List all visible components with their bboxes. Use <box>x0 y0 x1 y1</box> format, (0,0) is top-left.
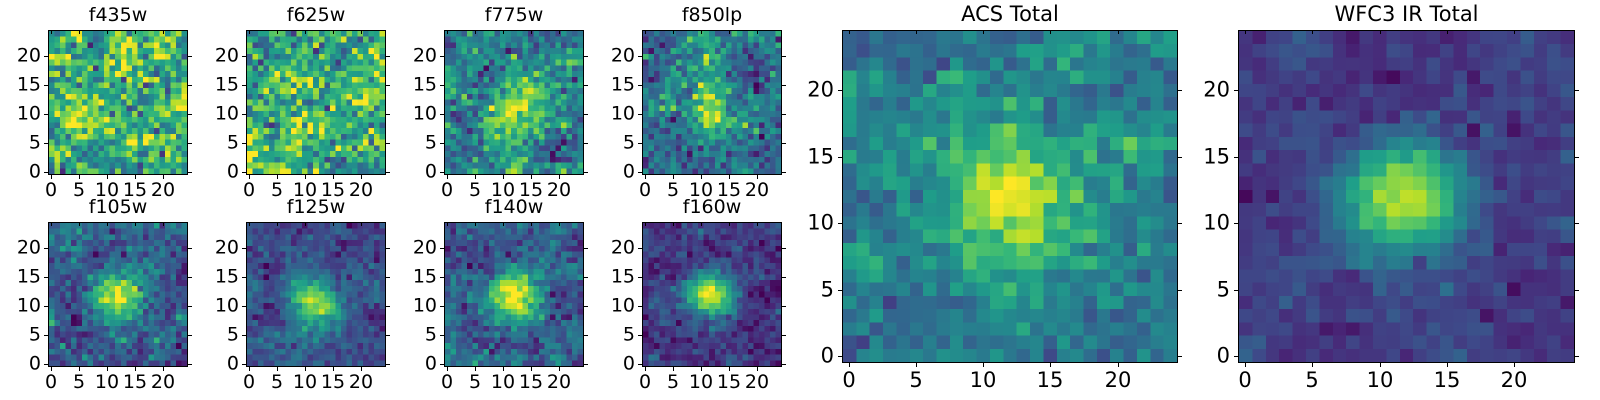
yticklabel-wfc3-ir-total-10: 10 <box>1190 213 1230 234</box>
xticklabel-f105w-20: 20 <box>151 373 175 392</box>
ytick-right-f105w-20 <box>188 248 192 249</box>
ytick-right-f160w-10 <box>782 306 786 307</box>
ytick-right-f435w-5 <box>188 143 192 144</box>
xticklabel-f140w-20: 20 <box>547 373 571 392</box>
xtick-top-f125w-15 <box>333 222 334 226</box>
ytick-f125w-10 <box>242 306 246 307</box>
axes-f160w <box>642 222 782 367</box>
ytick-right-f140w-20 <box>584 248 588 249</box>
panel-wfc3-ir-total: WFC3 IR Total0055101015152020 <box>1238 0 1575 400</box>
xtick-top-f160w-5 <box>673 222 674 226</box>
ytick-f105w-0 <box>44 364 48 365</box>
yticklabel-f105w-10: 10 <box>1 297 41 316</box>
yticklabel-f775w-20: 20 <box>397 47 437 66</box>
ytick-right-f140w-15 <box>584 277 588 278</box>
ytick-f160w-20 <box>638 248 642 249</box>
ytick-f160w-15 <box>638 277 642 278</box>
ytick-right-acs-total-5 <box>1178 290 1182 291</box>
xticklabel-f105w-15: 15 <box>123 373 147 392</box>
ytick-right-f140w-10 <box>584 306 588 307</box>
panel-title-f105w: f105w <box>48 198 188 217</box>
ytick-right-acs-total-15 <box>1178 157 1182 158</box>
ytick-right-f105w-5 <box>188 335 192 336</box>
xticklabel-acs-total-5: 5 <box>909 370 922 391</box>
ytick-right-f160w-20 <box>782 248 786 249</box>
ytick-right-f775w-0 <box>584 172 588 173</box>
yticklabel-f125w-20: 20 <box>199 239 239 258</box>
xtick-top-f105w-0 <box>51 222 52 226</box>
xtick-acs-total-0 <box>849 363 850 367</box>
ytick-wfc3-ir-total-10 <box>1234 223 1238 224</box>
xtick-top-acs-total-5 <box>916 30 917 34</box>
panel-title-acs-total: ACS Total <box>842 4 1178 25</box>
yticklabel-wfc3-ir-total-20: 20 <box>1190 80 1230 101</box>
yticklabel-wfc3-ir-total-5: 5 <box>1190 280 1230 301</box>
panel-title-wfc3-ir-total: WFC3 IR Total <box>1238 4 1575 25</box>
ytick-f140w-15 <box>440 277 444 278</box>
ytick-right-f625w-5 <box>386 143 390 144</box>
xticklabel-f105w-10: 10 <box>95 373 119 392</box>
yticklabel-f125w-0: 0 <box>199 355 239 374</box>
ytick-f140w-10 <box>440 306 444 307</box>
ytick-right-f775w-15 <box>584 85 588 86</box>
ytick-right-f125w-20 <box>386 248 390 249</box>
ytick-right-f850lp-5 <box>782 143 786 144</box>
ytick-right-f775w-5 <box>584 143 588 144</box>
xtick-acs-total-15 <box>1050 363 1051 367</box>
ytick-f125w-20 <box>242 248 246 249</box>
heatmap-image-f140w <box>445 223 583 366</box>
xtick-top-f105w-15 <box>135 222 136 226</box>
ytick-right-f125w-0 <box>386 364 390 365</box>
panel-f160w: f160w0055101015152020 <box>642 0 782 400</box>
yticklabel-acs-total-10: 10 <box>794 213 834 234</box>
ytick-right-wfc3-ir-total-10 <box>1575 223 1579 224</box>
panel-f140w: f140w0055101015152020 <box>444 0 584 400</box>
xticklabel-f140w-0: 0 <box>441 373 453 392</box>
ytick-wfc3-ir-total-15 <box>1234 157 1238 158</box>
yticklabel-f105w-15: 15 <box>1 268 41 287</box>
xtick-wfc3-ir-total-15 <box>1447 363 1448 367</box>
ytick-right-acs-total-20 <box>1178 90 1182 91</box>
xticklabel-f140w-15: 15 <box>519 373 543 392</box>
xtick-wfc3-ir-total-0 <box>1245 363 1246 367</box>
ytick-right-acs-total-10 <box>1178 223 1182 224</box>
ytick-right-f140w-5 <box>584 335 588 336</box>
xticklabel-f125w-20: 20 <box>349 373 373 392</box>
yticklabel-f160w-20: 20 <box>595 239 635 258</box>
yticklabel-acs-total-15: 15 <box>794 147 834 168</box>
axes-f140w <box>444 222 584 367</box>
panel-f125w: f125w0055101015152020 <box>246 0 386 400</box>
yticklabel-wfc3-ir-total-0: 0 <box>1190 346 1230 367</box>
ytick-right-f625w-0 <box>386 172 390 173</box>
ytick-right-f775w-10 <box>584 114 588 115</box>
xticklabel-acs-total-20: 20 <box>1105 370 1132 391</box>
yticklabel-f850lp-5: 5 <box>595 134 635 153</box>
yticklabel-f850lp-15: 15 <box>595 76 635 95</box>
yticklabel-f105w-20: 20 <box>1 239 41 258</box>
ytick-f105w-20 <box>44 248 48 249</box>
ytick-right-f160w-0 <box>782 364 786 365</box>
yticklabel-f140w-15: 15 <box>397 268 437 287</box>
xtick-top-wfc3-ir-total-0 <box>1245 30 1246 34</box>
xticklabel-f160w-15: 15 <box>717 373 741 392</box>
xticklabel-f140w-5: 5 <box>469 373 481 392</box>
ytick-f125w-5 <box>242 335 246 336</box>
xtick-top-wfc3-ir-total-5 <box>1312 30 1313 34</box>
ytick-right-f160w-15 <box>782 277 786 278</box>
ytick-right-f125w-5 <box>386 335 390 336</box>
xtick-top-f140w-5 <box>475 222 476 226</box>
xticklabel-acs-total-10: 10 <box>970 370 997 391</box>
xtick-top-f140w-10 <box>503 222 504 226</box>
ytick-f140w-0 <box>440 364 444 365</box>
ytick-right-f435w-10 <box>188 114 192 115</box>
ytick-right-f160w-5 <box>782 335 786 336</box>
ytick-acs-total-5 <box>838 290 842 291</box>
xticklabel-f160w-5: 5 <box>667 373 679 392</box>
yticklabel-f625w-15: 15 <box>199 76 239 95</box>
xtick-top-f140w-20 <box>559 222 560 226</box>
ytick-right-f435w-15 <box>188 85 192 86</box>
panel-title-f160w: f160w <box>642 198 782 217</box>
xticklabel-f105w-5: 5 <box>73 373 85 392</box>
ytick-right-f105w-10 <box>188 306 192 307</box>
yticklabel-acs-total-20: 20 <box>794 80 834 101</box>
xticklabel-f125w-10: 10 <box>293 373 317 392</box>
yticklabel-f160w-10: 10 <box>595 297 635 316</box>
axes-wfc3-ir-total <box>1238 30 1575 363</box>
xtick-wfc3-ir-total-10 <box>1380 363 1381 367</box>
xticklabel-f125w-5: 5 <box>271 373 283 392</box>
ytick-f105w-5 <box>44 335 48 336</box>
xtick-acs-total-20 <box>1118 363 1119 367</box>
ytick-f125w-0 <box>242 364 246 365</box>
ytick-acs-total-20 <box>838 90 842 91</box>
yticklabel-acs-total-5: 5 <box>794 280 834 301</box>
ytick-f140w-20 <box>440 248 444 249</box>
yticklabel-f775w-5: 5 <box>397 134 437 153</box>
yticklabel-f160w-5: 5 <box>595 326 635 345</box>
ytick-right-f435w-20 <box>188 56 192 57</box>
ytick-wfc3-ir-total-5 <box>1234 290 1238 291</box>
xtick-wfc3-ir-total-20 <box>1514 363 1515 367</box>
ytick-wfc3-ir-total-20 <box>1234 90 1238 91</box>
ytick-right-f775w-20 <box>584 56 588 57</box>
xticklabel-wfc3-ir-total-15: 15 <box>1434 370 1461 391</box>
xtick-top-f160w-10 <box>701 222 702 226</box>
yticklabel-f140w-20: 20 <box>397 239 437 258</box>
xtick-top-f125w-10 <box>305 222 306 226</box>
yticklabel-f125w-5: 5 <box>199 326 239 345</box>
ytick-acs-total-10 <box>838 223 842 224</box>
ytick-f160w-5 <box>638 335 642 336</box>
ytick-right-acs-total-0 <box>1178 356 1182 357</box>
xticklabel-wfc3-ir-total-0: 0 <box>1238 370 1251 391</box>
xticklabel-f160w-10: 10 <box>689 373 713 392</box>
xtick-top-wfc3-ir-total-20 <box>1514 30 1515 34</box>
yticklabel-f625w-5: 5 <box>199 134 239 153</box>
yticklabel-acs-total-0: 0 <box>794 346 834 367</box>
ytick-right-wfc3-ir-total-0 <box>1575 356 1579 357</box>
yticklabel-f105w-0: 0 <box>1 355 41 374</box>
xtick-top-f160w-20 <box>757 222 758 226</box>
yticklabel-f850lp-0: 0 <box>595 163 635 182</box>
ytick-right-f125w-15 <box>386 277 390 278</box>
xticklabel-f125w-15: 15 <box>321 373 345 392</box>
xtick-acs-total-5 <box>916 363 917 367</box>
yticklabel-f435w-10: 10 <box>1 105 41 124</box>
heatmap-image-f160w <box>643 223 781 366</box>
xtick-acs-total-10 <box>983 363 984 367</box>
ytick-right-f850lp-10 <box>782 114 786 115</box>
yticklabel-f625w-20: 20 <box>199 47 239 66</box>
panel-title-f140w: f140w <box>444 198 584 217</box>
ytick-right-f105w-0 <box>188 364 192 365</box>
panel-title-f125w: f125w <box>246 198 386 217</box>
ytick-f125w-15 <box>242 277 246 278</box>
xtick-top-f105w-10 <box>107 222 108 226</box>
xticklabel-wfc3-ir-total-10: 10 <box>1367 370 1394 391</box>
ytick-wfc3-ir-total-0 <box>1234 356 1238 357</box>
yticklabel-f850lp-20: 20 <box>595 47 635 66</box>
yticklabel-f160w-0: 0 <box>595 355 635 374</box>
ytick-right-f435w-0 <box>188 172 192 173</box>
xtick-top-f140w-15 <box>531 222 532 226</box>
yticklabel-f435w-5: 5 <box>1 134 41 153</box>
heatmap-image-wfc3-ir-total <box>1239 31 1574 362</box>
figure-canvas: f435w0055101015152020f625w00551010151520… <box>0 0 1600 400</box>
yticklabel-f140w-0: 0 <box>397 355 437 374</box>
ytick-f105w-10 <box>44 306 48 307</box>
ytick-right-f105w-15 <box>188 277 192 278</box>
ytick-right-f625w-10 <box>386 114 390 115</box>
xticklabel-f160w-0: 0 <box>639 373 651 392</box>
yticklabel-f435w-0: 0 <box>1 163 41 182</box>
xtick-top-f160w-0 <box>645 222 646 226</box>
heatmap-image-f105w <box>49 223 187 366</box>
yticklabel-f435w-20: 20 <box>1 47 41 66</box>
xtick-top-acs-total-15 <box>1050 30 1051 34</box>
axes-f125w <box>246 222 386 367</box>
yticklabel-f125w-15: 15 <box>199 268 239 287</box>
xtick-top-acs-total-0 <box>849 30 850 34</box>
xticklabel-f105w-0: 0 <box>45 373 57 392</box>
yticklabel-f625w-0: 0 <box>199 163 239 182</box>
xtick-top-acs-total-20 <box>1118 30 1119 34</box>
xticklabel-wfc3-ir-total-20: 20 <box>1501 370 1528 391</box>
xtick-top-f125w-20 <box>361 222 362 226</box>
ytick-right-f625w-15 <box>386 85 390 86</box>
xtick-top-f125w-5 <box>277 222 278 226</box>
ytick-acs-total-15 <box>838 157 842 158</box>
yticklabel-f625w-10: 10 <box>199 105 239 124</box>
heatmap-image-f125w <box>247 223 385 366</box>
xtick-top-f105w-5 <box>79 222 80 226</box>
xtick-wfc3-ir-total-5 <box>1312 363 1313 367</box>
ytick-right-f850lp-15 <box>782 85 786 86</box>
xtick-top-acs-total-10 <box>983 30 984 34</box>
axes-acs-total <box>842 30 1178 363</box>
xtick-top-wfc3-ir-total-10 <box>1380 30 1381 34</box>
axes-f105w <box>48 222 188 367</box>
yticklabel-f160w-15: 15 <box>595 268 635 287</box>
ytick-acs-total-0 <box>838 356 842 357</box>
yticklabel-f775w-15: 15 <box>397 76 437 95</box>
ytick-right-f140w-0 <box>584 364 588 365</box>
ytick-right-f850lp-0 <box>782 172 786 173</box>
xtick-top-f125w-0 <box>249 222 250 226</box>
panel-f105w: f105w0055101015152020 <box>48 0 188 400</box>
ytick-right-wfc3-ir-total-5 <box>1575 290 1579 291</box>
xtick-top-f105w-20 <box>163 222 164 226</box>
xticklabel-f140w-10: 10 <box>491 373 515 392</box>
yticklabel-f775w-0: 0 <box>397 163 437 182</box>
yticklabel-f435w-15: 15 <box>1 76 41 95</box>
xticklabel-wfc3-ir-total-5: 5 <box>1305 370 1318 391</box>
ytick-f160w-0 <box>638 364 642 365</box>
panel-acs-total: ACS Total0055101015152020 <box>842 0 1178 400</box>
ytick-f160w-10 <box>638 306 642 307</box>
xticklabel-acs-total-15: 15 <box>1037 370 1064 391</box>
heatmap-image-acs-total <box>843 31 1177 362</box>
xticklabel-f160w-20: 20 <box>745 373 769 392</box>
yticklabel-f140w-10: 10 <box>397 297 437 316</box>
ytick-right-wfc3-ir-total-15 <box>1575 157 1579 158</box>
yticklabel-f850lp-10: 10 <box>595 105 635 124</box>
xtick-top-wfc3-ir-total-15 <box>1447 30 1448 34</box>
ytick-right-wfc3-ir-total-20 <box>1575 90 1579 91</box>
yticklabel-wfc3-ir-total-15: 15 <box>1190 147 1230 168</box>
ytick-right-f125w-10 <box>386 306 390 307</box>
yticklabel-f125w-10: 10 <box>199 297 239 316</box>
xtick-top-f160w-15 <box>729 222 730 226</box>
xticklabel-acs-total-0: 0 <box>842 370 855 391</box>
xtick-top-f140w-0 <box>447 222 448 226</box>
yticklabel-f775w-10: 10 <box>397 105 437 124</box>
ytick-right-f625w-20 <box>386 56 390 57</box>
ytick-f140w-5 <box>440 335 444 336</box>
xticklabel-f125w-0: 0 <box>243 373 255 392</box>
ytick-f105w-15 <box>44 277 48 278</box>
ytick-right-f850lp-20 <box>782 56 786 57</box>
yticklabel-f140w-5: 5 <box>397 326 437 345</box>
yticklabel-f105w-5: 5 <box>1 326 41 345</box>
